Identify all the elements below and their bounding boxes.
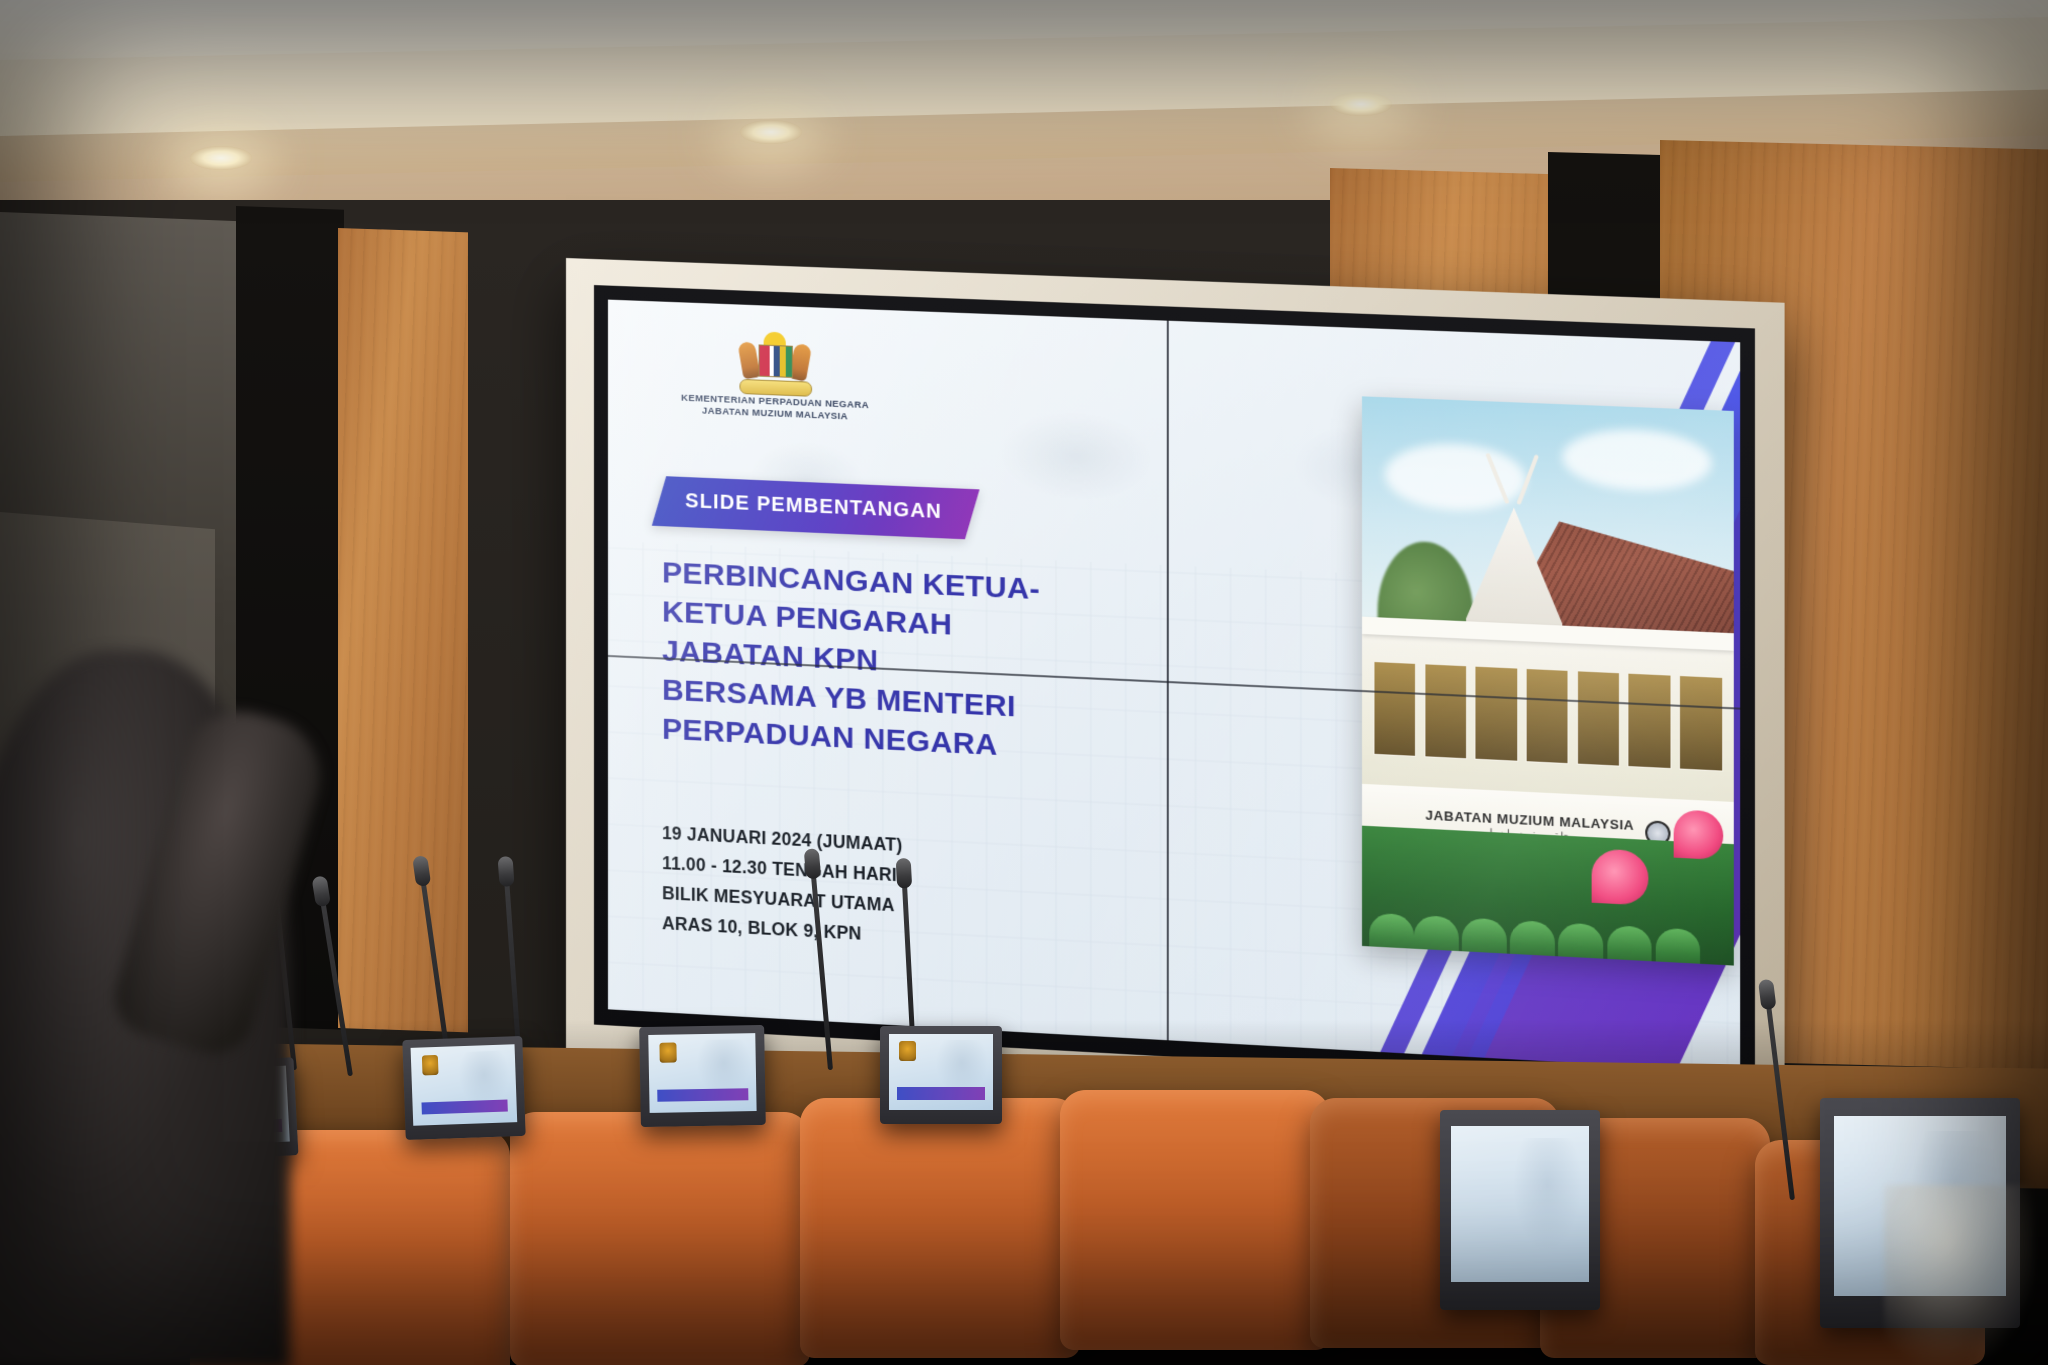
screen-title-bar bbox=[658, 1088, 749, 1102]
video-wall-screen[interactable]: JABATAN MUZIUM MALAYSIA جابتن موزيوم ملي… bbox=[608, 300, 1740, 1072]
crest-tiger-left bbox=[738, 341, 761, 379]
delegate-monitor-screen bbox=[648, 1033, 757, 1113]
delegate-monitor-screen bbox=[1451, 1126, 1589, 1282]
window bbox=[1577, 670, 1620, 766]
museum-building-photo: JABATAN MUZIUM MALAYSIA جابتن موزيوم ملي… bbox=[1362, 397, 1734, 966]
ceiling-downlight-icon bbox=[1330, 92, 1392, 116]
window bbox=[1424, 663, 1467, 759]
delegate-monitor-screen bbox=[889, 1034, 994, 1110]
window bbox=[1475, 666, 1518, 762]
coat-of-arms-icon bbox=[659, 1042, 677, 1063]
ministry-identity-block: KEMENTERIAN PERPADUAN NEGARA JABATAN MUZ… bbox=[664, 327, 886, 426]
crest-ribbon bbox=[740, 378, 813, 396]
slide-title: PERBINCANGAN KETUA- KETUA PENGARAH JABAT… bbox=[662, 553, 1290, 779]
microphone-head-icon bbox=[896, 858, 913, 889]
video-wall-bezel: JABATAN MUZIUM MALAYSIA جابتن موزيوم ملي… bbox=[594, 285, 1755, 1089]
garden-foreground bbox=[1362, 825, 1734, 965]
coat-of-arms-icon bbox=[738, 330, 813, 397]
delegate-monitor[interactable] bbox=[639, 1025, 766, 1127]
presentation-slide: JABATAN MUZIUM MALAYSIA جابتن موزيوم ملي… bbox=[608, 300, 1740, 1072]
coat-of-arms-icon bbox=[422, 1055, 439, 1076]
coat-of-arms-icon bbox=[899, 1041, 916, 1061]
screen-title-bar bbox=[897, 1087, 985, 1099]
wood-panel-left bbox=[338, 228, 468, 1032]
video-wall-frame: JABATAN MUZIUM MALAYSIA جابتن موزيوم ملي… bbox=[566, 258, 1785, 1122]
crest-shield bbox=[759, 344, 793, 378]
screen-watermark bbox=[1512, 1138, 1584, 1253]
delegate-monitor[interactable] bbox=[880, 1026, 1002, 1124]
slide-ribbon-label: SLIDE PEMBENTANGAN bbox=[685, 491, 942, 525]
window bbox=[1526, 668, 1569, 764]
delegate-monitor[interactable] bbox=[1440, 1110, 1600, 1310]
microphone-head-icon bbox=[498, 856, 515, 887]
window bbox=[1679, 675, 1723, 771]
microphone-head-icon bbox=[804, 848, 822, 879]
delegate-monitor[interactable] bbox=[402, 1036, 525, 1140]
chair bbox=[800, 1098, 1080, 1358]
window-row-upper bbox=[1373, 661, 1722, 771]
window bbox=[1373, 661, 1416, 756]
chair bbox=[1060, 1090, 1330, 1350]
screen-title-bar bbox=[421, 1099, 508, 1114]
palm-leaf bbox=[1370, 913, 1414, 956]
chair bbox=[510, 1112, 810, 1365]
conference-room-photo: JABATAN MUZIUM MALAYSIA جابتن موزيوم ملي… bbox=[0, 0, 2048, 1365]
wood-grain-texture bbox=[338, 228, 468, 1032]
window bbox=[1628, 673, 1672, 769]
palm-leaf bbox=[1655, 928, 1700, 966]
ceiling-downlight-icon bbox=[190, 146, 252, 170]
glassware bbox=[1884, 1185, 2034, 1365]
ceiling-downlight-icon bbox=[740, 120, 802, 144]
delegate-monitor-screen bbox=[411, 1044, 517, 1126]
red-flower bbox=[1592, 849, 1648, 905]
